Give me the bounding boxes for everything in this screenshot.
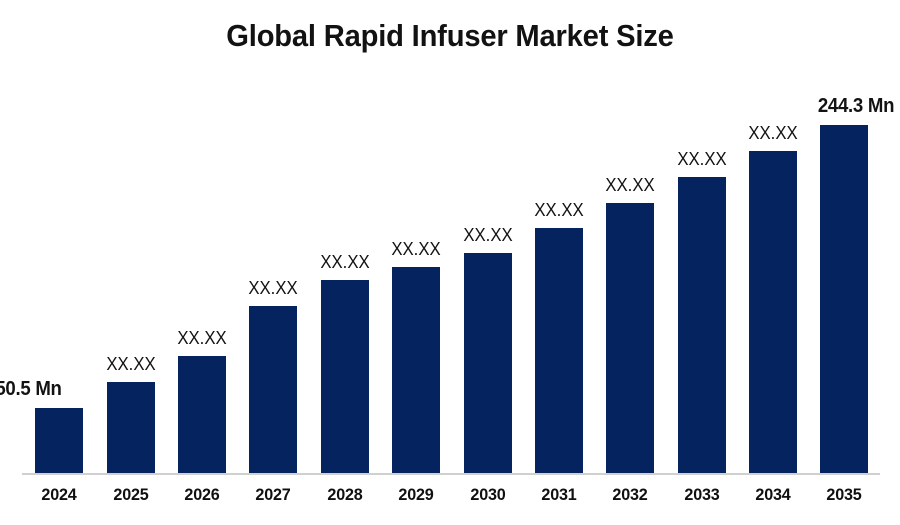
category-label-2034: 2034 [735, 484, 811, 506]
category-label-2025: 2025 [93, 484, 169, 506]
category-label-slot: 2034 [749, 0, 797, 525]
category-label-2030: 2030 [450, 484, 526, 506]
category-label-2029: 2029 [378, 484, 454, 506]
category-label-slot: 2030 [464, 0, 512, 525]
category-label-slot: 2035 [820, 0, 868, 525]
chart-page: Global Rapid Infuser Market Size 150.5 M… [0, 0, 900, 525]
category-label-2026: 2026 [164, 484, 240, 506]
category-label-2035: 2035 [806, 484, 882, 506]
category-label-2032: 2032 [592, 484, 668, 506]
category-label-2033: 2033 [664, 484, 740, 506]
category-label-2031: 2031 [521, 484, 597, 506]
category-label-slot: 2029 [392, 0, 440, 525]
category-label-2027: 2027 [235, 484, 311, 506]
category-label-slot: 2033 [678, 0, 726, 525]
category-label-2028: 2028 [307, 484, 383, 506]
category-label-slot: 2025 [107, 0, 155, 525]
category-label-slot: 2028 [321, 0, 369, 525]
category-label-slot: 2032 [606, 0, 654, 525]
category-label-slot: 2024 [35, 0, 83, 525]
category-label-slot: 2026 [178, 0, 226, 525]
category-label-2024: 2024 [21, 484, 97, 506]
bar-chart-plot-area: 150.5 MnXX.XXXX.XXXX.XXXX.XXXX.XXXX.XXXX… [0, 0, 900, 525]
category-label-slot: 2031 [535, 0, 583, 525]
category-label-slot: 2027 [249, 0, 297, 525]
